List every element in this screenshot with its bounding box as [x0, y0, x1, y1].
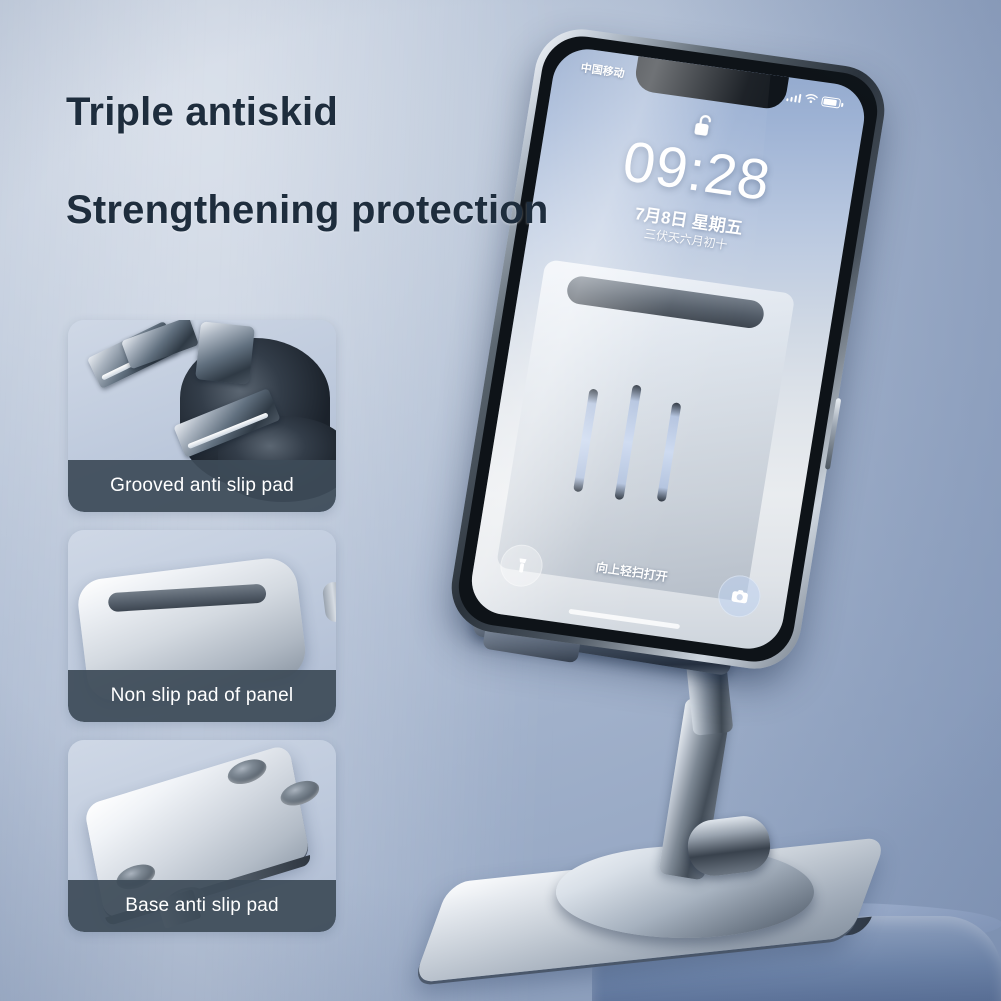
panel-side-knob	[322, 581, 336, 623]
panel-anti-slip-strip	[108, 584, 267, 613]
headline-secondary: Strengthening protection	[66, 190, 626, 230]
feature-caption: Non slip pad of panel	[68, 670, 336, 722]
feature-card-grooved-anti-slip-pad[interactable]: Grooved anti slip pad	[68, 320, 336, 512]
feature-card-non-slip-pad-of-panel[interactable]: Non slip pad of panel	[68, 530, 336, 722]
product-marketing-image: 中国移动	[0, 0, 1001, 1001]
clamp-arm	[195, 321, 255, 384]
anti-slip-pad	[226, 755, 268, 788]
feature-caption: Base anti slip pad	[68, 880, 336, 932]
clamp-arm	[121, 320, 199, 369]
feature-card-list: Grooved anti slip pad Non slip pad of pa…	[68, 320, 336, 950]
feature-card-base-anti-slip-pad[interactable]: Base anti slip pad	[68, 740, 336, 932]
feature-caption: Grooved anti slip pad	[68, 460, 336, 512]
anti-slip-pad	[279, 777, 321, 810]
headline-primary: Triple antiskid	[66, 92, 626, 132]
headline-block: Triple antiskid Strengthening protection	[66, 92, 626, 230]
